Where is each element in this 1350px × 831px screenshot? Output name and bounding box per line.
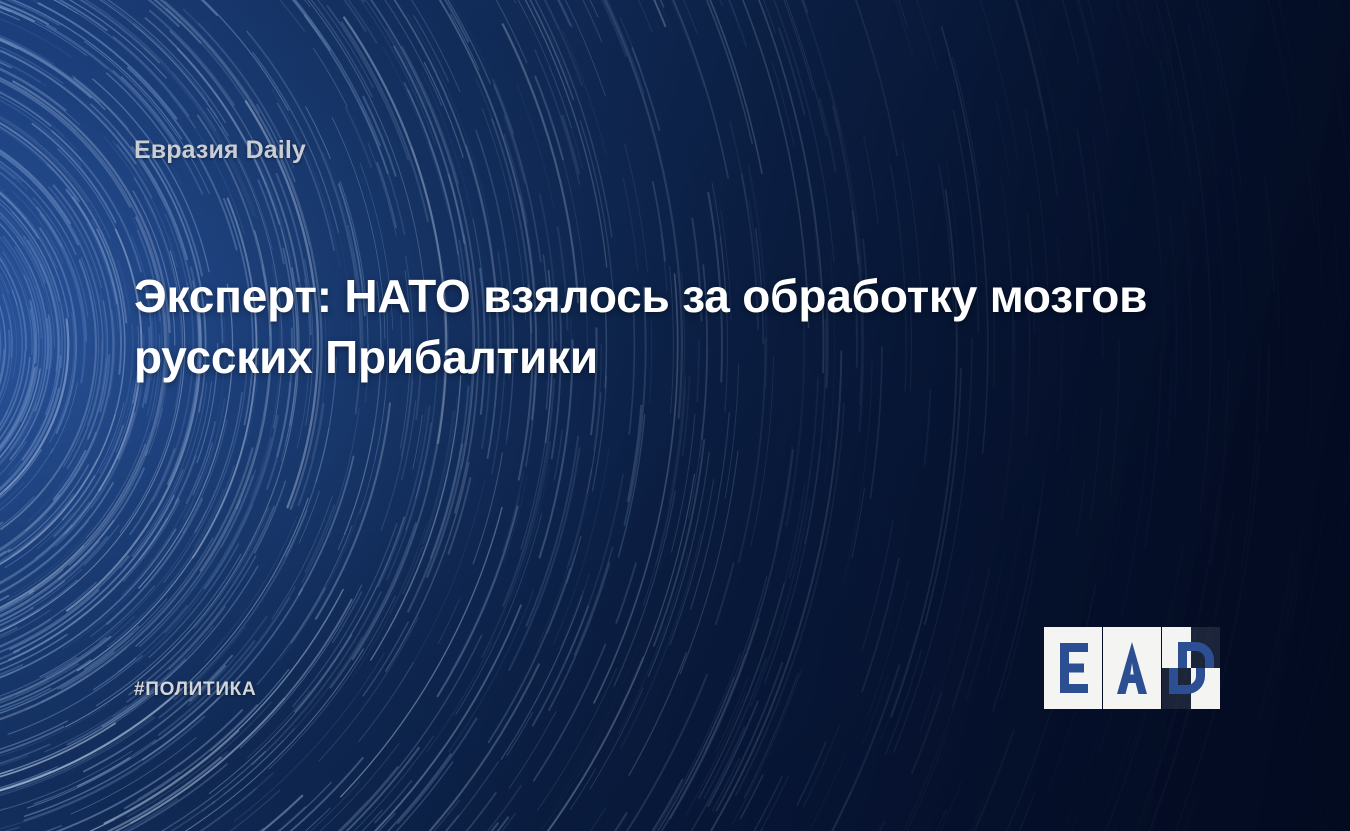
category-tag: #ПОЛИТИКА [134, 679, 256, 701]
news-social-card: Евразия Daily Эксперт: НАТО взялось за о… [0, 0, 1350, 831]
logo-tile-a [1103, 627, 1161, 709]
eadaily-logo [1044, 627, 1220, 709]
logo-tile-d [1162, 627, 1220, 709]
page-title: Эксперт: НАТО взялось за обработку мозго… [134, 266, 1154, 388]
brand-name: Евразия Daily [134, 136, 306, 165]
logo-tile-e [1044, 627, 1102, 709]
